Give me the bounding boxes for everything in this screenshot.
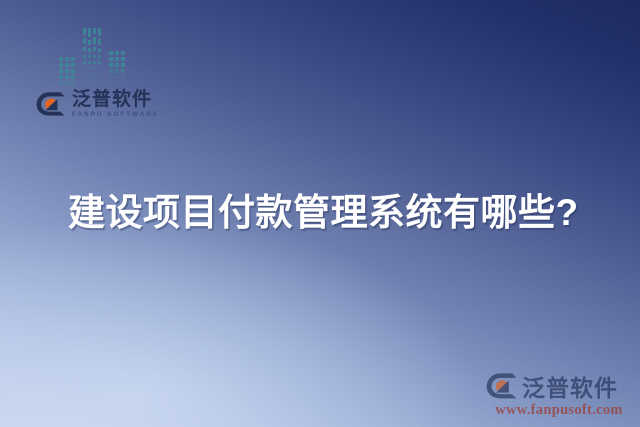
brand-name-cn: 泛普软件	[72, 90, 159, 109]
brand-name-en: FANPU SOFTWARE	[72, 112, 159, 118]
brand-wordmark: 泛普软件 FANPU SOFTWARE	[72, 90, 159, 118]
page-title: 建设项目付款管理系统有哪些?	[68, 182, 579, 236]
fanpu-swoosh-logo-icon	[486, 371, 518, 401]
watermark-name-cn: 泛普软件	[522, 369, 618, 403]
promo-banner: 泛普软件 FANPU SOFTWARE 建设项目付款管理系统有哪些? 泛普软件 …	[0, 0, 640, 427]
watermark: 泛普软件 www.fanpusoft.com	[486, 369, 632, 419]
brand-logo: 泛普软件 FANPU SOFTWARE	[36, 90, 159, 118]
fanpu-swoosh-logo-icon	[36, 90, 66, 118]
watermark-logo: 泛普软件	[486, 369, 632, 403]
pixel-cityscape-icon	[56, 24, 140, 94]
watermark-url: www.fanpusoft.com	[486, 402, 632, 419]
